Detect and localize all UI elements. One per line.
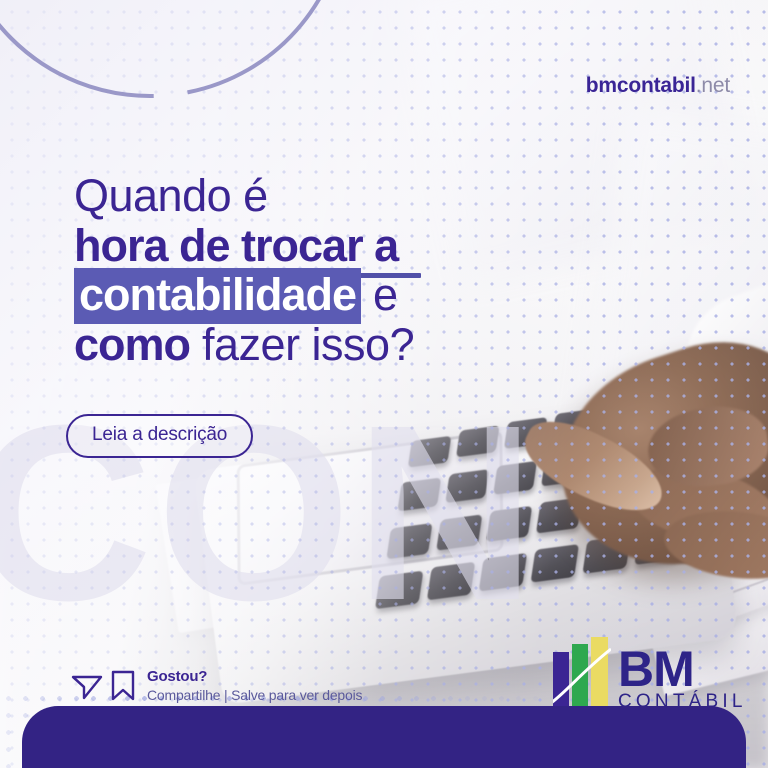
decorative-arc-segment: [0, 0, 346, 96]
website-tld: .net: [696, 74, 730, 97]
headline-line-4: como fazer isso?: [74, 321, 554, 369]
share-icon-group: [70, 669, 136, 703]
share-subtitle: Compartilhe | Salve para ver depois: [147, 687, 362, 704]
logo-name: BM: [618, 648, 747, 690]
bookmark-icon[interactable]: [110, 669, 136, 703]
decorative-arc-group: [0, 0, 370, 180]
headline: Quando é hora de trocar a contabilidade …: [74, 172, 554, 371]
headline-highlight-contabilidade: contabilidade: [74, 268, 361, 324]
read-description-button[interactable]: Leia a descrição: [66, 414, 253, 458]
share-prompt: Gostou? Compartilhe | Salve para ver dep…: [70, 668, 362, 704]
headline-text-hora: hora de trocar a: [74, 220, 398, 271]
headline-text-e: e: [361, 269, 398, 320]
paper-plane-icon[interactable]: [70, 669, 104, 703]
headline-text-fazer-isso: fazer isso?: [190, 319, 414, 370]
bottom-accent-bar: [22, 706, 746, 768]
logo-wordmark: BM CONTÁBIL: [618, 648, 747, 711]
headline-text-como: como: [74, 319, 190, 370]
headline-line-1: Quando é: [74, 172, 554, 220]
headline-text-quando: Quando é: [74, 170, 268, 221]
social-post-canvas: CON bmcontabil.net Quando é hora de troc…: [0, 0, 768, 768]
share-title: Gostou?: [147, 668, 362, 687]
brand-logo: BM CONTÁBIL: [553, 637, 747, 709]
decorative-arc-outer: [0, 0, 346, 96]
headline-line-3: contabilidade e: [74, 271, 554, 319]
logo-swoosh-icon: [553, 637, 611, 709]
website-name: bmcontabil: [586, 74, 696, 97]
share-text-block: Gostou? Compartilhe | Salve para ver dep…: [147, 668, 362, 704]
headline-line-2: hora de trocar a: [74, 222, 554, 270]
logo-mark-bars: [553, 637, 611, 709]
website-url: bmcontabil.net: [586, 74, 730, 98]
